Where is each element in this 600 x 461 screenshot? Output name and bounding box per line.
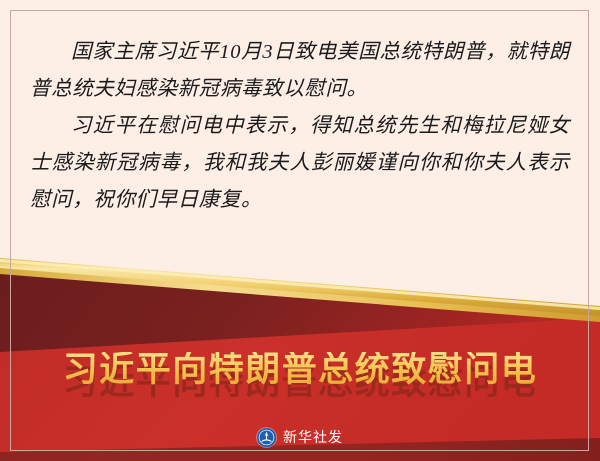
credit-line: 新华社发 [0,428,600,447]
news-poster: 国家主席习近平10月3日致电美国总统特朗普，就特朗普总统夫妇感染新冠病毒致以慰问… [0,0,600,461]
credit-text: 新华社发 [283,431,343,445]
xinhua-logo-icon [257,428,276,447]
headline: 习近平向特朗普总统致慰问电 [0,352,600,389]
headline-text: 习近平向特朗普总统致慰问电 [63,352,538,389]
article-paragraph-1: 国家主席习近平10月3日致电美国总统特朗普，就特朗普总统夫妇感染新冠病毒致以慰问… [30,34,570,108]
article-paragraph-2: 习近平在慰问电中表示，得知总统先生和梅拉尼娅女士感染新冠病毒，我和我夫人彭丽媛谨… [30,108,570,219]
article-body: 国家主席习近平10月3日致电美国总统特朗普，就特朗普总统夫妇感染新冠病毒致以慰问… [30,34,570,219]
